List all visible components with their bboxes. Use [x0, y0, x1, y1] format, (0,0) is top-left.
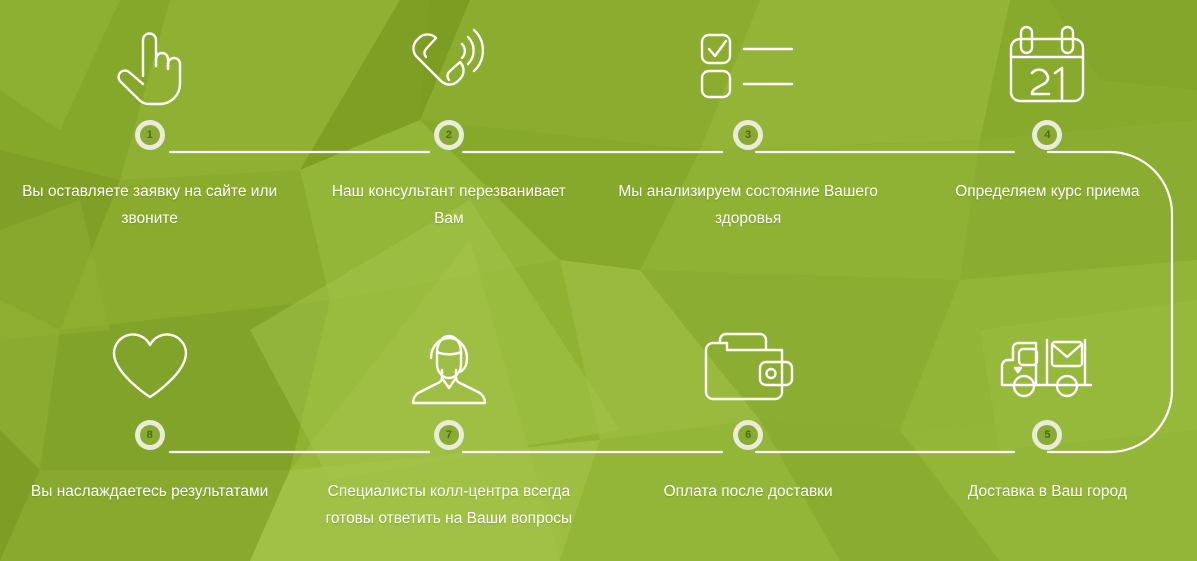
marker-slot-2: 2: [299, 120, 598, 156]
step-number: 2: [446, 130, 452, 141]
marker-slot-1: 1: [0, 120, 299, 156]
step-marker-1[interactable]: 1: [135, 120, 165, 150]
top-row: 1 Вы оставляете заявку на сайте или звон…: [0, 0, 1197, 232]
step-marker-inner: 4: [1037, 125, 1057, 145]
step-5[interactable]: 5 Доставка в Ваш город: [898, 300, 1197, 532]
marker-slot-4: 4: [898, 120, 1197, 156]
step-number: 5: [1044, 430, 1050, 441]
step-marker-inner: 5: [1037, 425, 1057, 445]
step-caption-6: Оплата после доставки: [599, 478, 898, 505]
step-7[interactable]: 7 Специалисты колл-центра всегда готовы …: [299, 300, 598, 532]
heart-icon: [0, 300, 299, 420]
wallet-icon: [599, 300, 898, 420]
step-number: 8: [147, 430, 153, 441]
step-8[interactable]: 8 Вы наслаждаетесь результатами: [0, 300, 299, 532]
step-1[interactable]: 1 Вы оставляете заявку на сайте или звон…: [0, 0, 299, 232]
step-marker-7[interactable]: 7: [434, 420, 464, 450]
marker-slot-5: 5: [898, 420, 1197, 456]
step-number: 7: [446, 430, 452, 441]
step-4[interactable]: 4 Определяем курс приема: [898, 0, 1197, 232]
checklist-icon: [599, 0, 898, 120]
step-marker-inner: 3: [738, 125, 758, 145]
step-caption-7: Специалисты колл-центра всегда готовы от…: [299, 478, 598, 532]
phone-ringing-icon: [299, 0, 598, 120]
process-flow-diagram: 1 Вы оставляете заявку на сайте или звон…: [0, 0, 1197, 561]
step-number: 6: [745, 430, 751, 441]
step-caption-2: Наш консультант перезванивает Вам: [299, 178, 598, 232]
step-caption-4: Определяем курс приема: [898, 178, 1197, 205]
step-marker-6[interactable]: 6: [733, 420, 763, 450]
step-caption-5: Доставка в Ваш город: [898, 478, 1197, 505]
step-caption-1: Вы оставляете заявку на сайте или звонит…: [0, 178, 299, 232]
step-marker-inner: 1: [140, 125, 160, 145]
step-caption-3: Мы анализируем состояние Вашего здоровья: [599, 178, 898, 232]
step-marker-5[interactable]: 5: [1032, 420, 1062, 450]
marker-slot-3: 3: [599, 120, 898, 156]
step-number: 1: [147, 130, 153, 141]
marker-slot-6: 6: [599, 420, 898, 456]
step-2[interactable]: 2 Наш консультант перезванивает Вам: [299, 0, 598, 232]
step-marker-inner: 7: [439, 425, 459, 445]
step-marker-2[interactable]: 2: [434, 120, 464, 150]
hand-pointer-icon: [0, 0, 299, 120]
step-marker-3[interactable]: 3: [733, 120, 763, 150]
step-marker-inner: 8: [140, 425, 160, 445]
bottom-row: 8 Вы наслаждаетесь результатами: [0, 300, 1197, 532]
step-marker-inner: 2: [439, 125, 459, 145]
step-number: 4: [1044, 130, 1050, 141]
call-center-operator-icon: [299, 300, 598, 420]
marker-slot-7: 7: [299, 420, 598, 456]
step-marker-8[interactable]: 8: [135, 420, 165, 450]
step-marker-inner: 6: [738, 425, 758, 445]
step-number: 3: [745, 130, 751, 141]
step-caption-8: Вы наслаждаетесь результатами: [0, 478, 299, 505]
marker-slot-8: 8: [0, 420, 299, 456]
step-3[interactable]: 3 Мы анализируем состояние Вашего здоров…: [599, 0, 898, 232]
step-marker-4[interactable]: 4: [1032, 120, 1062, 150]
calendar-21-icon: [898, 0, 1197, 120]
step-6[interactable]: 6 Оплата после доставки: [599, 300, 898, 532]
delivery-truck-icon: [898, 300, 1197, 420]
